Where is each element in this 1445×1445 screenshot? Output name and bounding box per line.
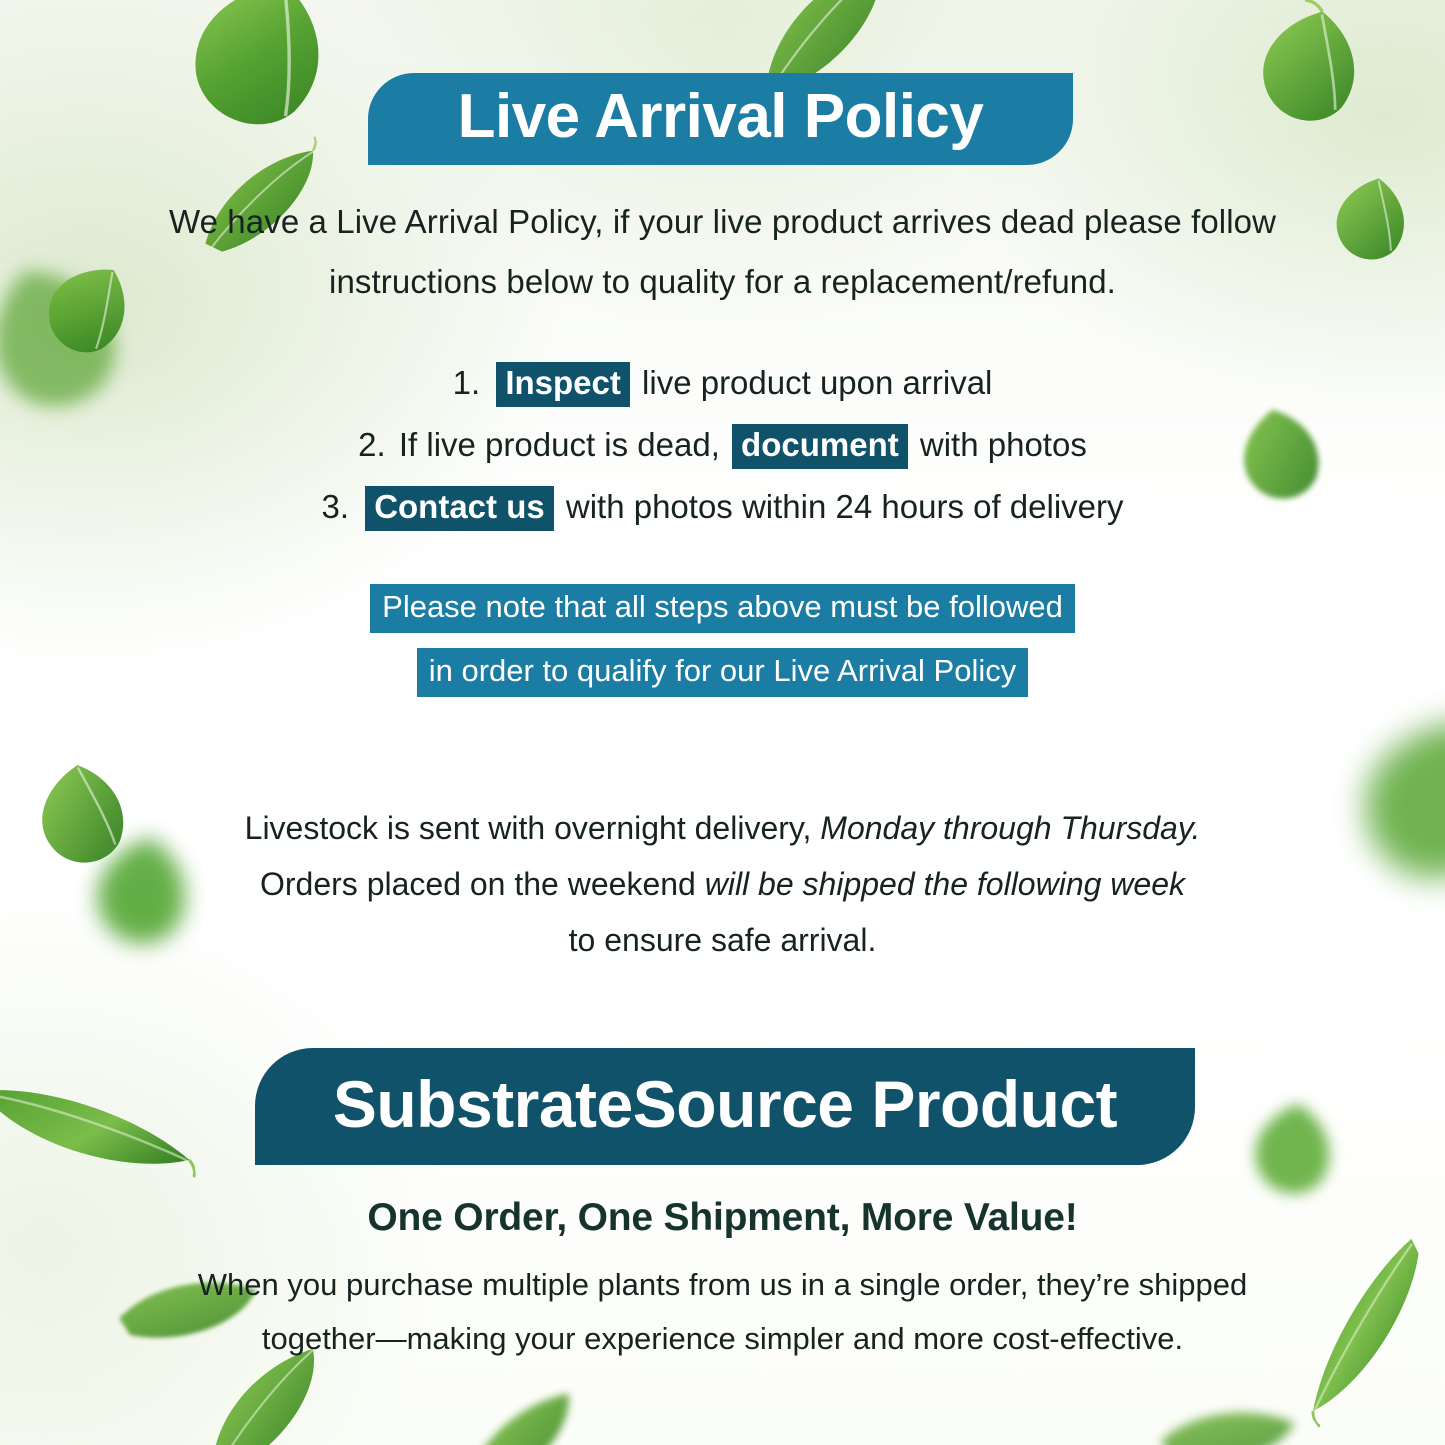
step-text-after: with photos within 24 hours of delivery: [566, 488, 1124, 525]
livestock-line-2: Orders placed on the weekend will be shi…: [0, 856, 1445, 912]
intro-paragraph: We have a Live Arrival Policy, if your l…: [0, 192, 1445, 312]
step-number: 1.: [453, 364, 481, 401]
step-item: 1. Inspect live product upon arrival: [0, 352, 1445, 414]
leaf-icon: [443, 1377, 602, 1445]
livestock-line-1: Livestock is sent with overnight deliver…: [0, 800, 1445, 856]
livestock-line-2-plain: Orders placed on the weekend: [260, 866, 696, 902]
policy-note-line-2: in order to qualify for our Live Arrival…: [417, 648, 1029, 697]
intro-line-1: We have a Live Arrival Policy, if your l…: [0, 192, 1445, 252]
outro-line-2: together—making your experience simpler …: [0, 1312, 1445, 1366]
leaf-icon: [1149, 1373, 1306, 1445]
outro-line-1: When you purchase multiple plants from u…: [0, 1258, 1445, 1312]
live-arrival-policy-title: Live Arrival Policy: [458, 81, 984, 152]
leaf-icon: [1229, 0, 1395, 147]
livestock-shipping-paragraph: Livestock is sent with overnight deliver…: [0, 800, 1445, 968]
livestock-line-3: to ensure safe arrival.: [0, 912, 1445, 968]
policy-note-block: Please note that all steps above must be…: [0, 584, 1445, 712]
substratesource-product-banner: SubstrateSource Product: [255, 1048, 1195, 1165]
leaf-icon: [148, 0, 376, 164]
livestock-line-1-italic: Monday through Thursday.: [820, 810, 1200, 846]
step-text-after: with photos: [920, 426, 1087, 463]
outro-paragraph: When you purchase multiple plants from u…: [0, 1258, 1445, 1366]
step-number: 3.: [321, 488, 349, 525]
value-subheading: One Order, One Shipment, More Value!: [0, 1196, 1445, 1240]
leaf-icon: [1236, 1086, 1354, 1213]
step-text-after: live product upon arrival: [642, 364, 992, 401]
step-item: 3. Contact us with photos within 24 hour…: [0, 476, 1445, 538]
policy-note-line-1: Please note that all steps above must be…: [370, 584, 1075, 633]
step-item: 2. If live product is dead, document wit…: [0, 414, 1445, 476]
leaf-icon: [0, 1045, 197, 1205]
livestock-line-2-italic: will be shipped the following week: [705, 866, 1185, 902]
steps-list: 1. Inspect live product upon arrival 2. …: [0, 352, 1445, 538]
step-text-before: If live product is dead,: [399, 426, 720, 463]
step-highlight-chip: document: [732, 424, 908, 469]
live-arrival-policy-page: Live Arrival Policy We have a Live Arriv…: [0, 0, 1445, 1445]
live-arrival-policy-banner: Live Arrival Policy: [368, 73, 1073, 165]
step-highlight-chip: Inspect: [496, 362, 630, 407]
intro-line-2: instructions below to quality for a repl…: [0, 252, 1445, 312]
step-highlight-chip: Contact us: [365, 486, 554, 531]
step-number: 2.: [358, 426, 386, 463]
substratesource-product-title: SubstrateSource Product: [333, 1066, 1117, 1142]
livestock-line-1-plain: Livestock is sent with overnight deliver…: [245, 810, 812, 846]
